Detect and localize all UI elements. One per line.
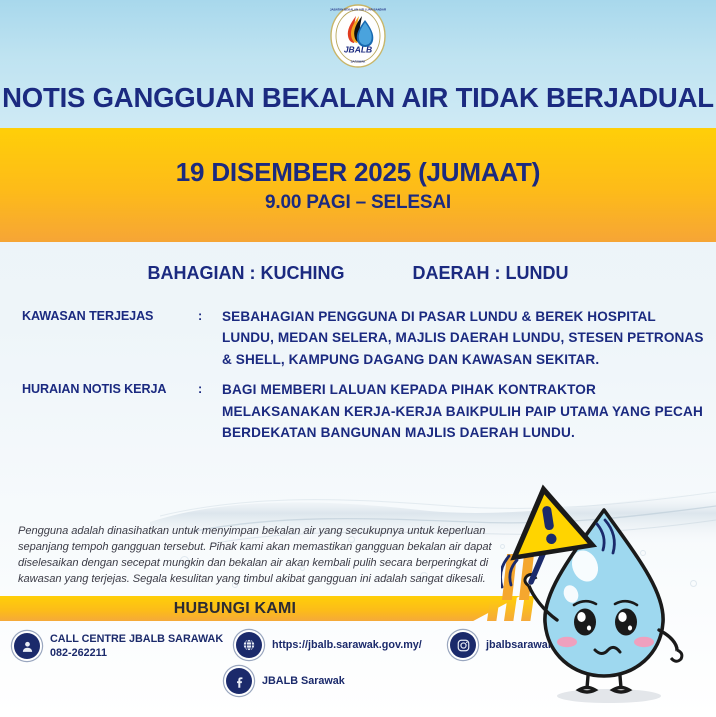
jbalb-logo: JBALB JABATAN BEKALAN AIR LUAR BANDAR SA… [326,4,390,68]
poster-header: JBALB JABATAN BEKALAN AIR LUAR BANDAR SA… [0,0,716,128]
detail-value: BAGI MEMBERI LALUAN KEPADA PIHAK KONTRAK… [222,379,704,443]
disclaimer-text: Pengguna adalah dinasihatkan untuk menyi… [18,524,518,587]
contact-instagram-text: jbalbsarawak [486,638,554,652]
page-title: NOTIS GANGGUAN BEKALAN AIR TIDAK BERJADU… [0,82,716,114]
date-band: 19 DISEMBER 2025 (JUMAAT) 9.00 PAGI – SE… [0,128,716,242]
mascot-stripe-2 [519,554,534,600]
contact-call-centre-text: CALL CENTRE JBALB SARAWAK 082-262211 [50,632,223,661]
svg-text:JABATAN BEKALAN AIR LUAR BANDA: JABATAN BEKALAN AIR LUAR BANDAR [330,8,387,12]
contact-call-centre[interactable]: CALL CENTRE JBALB SARAWAK 082-262211 [14,632,223,661]
contact-instagram[interactable]: jbalbsarawak [450,632,554,658]
detail-value: SEBAHAGIAN PENGGUNA DI PASAR LUNDU & BER… [222,306,704,370]
detail-colon: : [198,306,222,323]
detail-row-work-description: HURAIAN NOTIS KERJA : BAGI MEMBERI LALUA… [0,379,716,443]
details-section: KAWASAN TERJEJAS : SEBAHAGIAN PENGGUNA D… [0,306,716,453]
svg-text:SARAWAK: SARAWAK [351,60,367,64]
detail-row-affected-area: KAWASAN TERJEJAS : SEBAHAGIAN PENGGUNA D… [0,306,716,370]
person-icon [14,633,40,659]
detail-label: KAWASAN TERJEJAS [22,306,198,323]
outage-time: 9.00 PAGI – SELESAI [265,192,451,214]
contacts-section: CALL CENTRE JBALB SARAWAK 082-262211 htt… [0,628,716,698]
detail-label: HURAIAN NOTIS KERJA [22,379,198,396]
division-label: BAHAGIAN : KUCHING [148,263,345,284]
notice-poster: JBALB JABATAN BEKALAN AIR LUAR BANDAR SA… [0,0,716,717]
contact-website[interactable]: https://jbalb.sarawak.gov.my/ [236,632,422,658]
outage-date: 19 DISEMBER 2025 (JUMAAT) [176,157,540,188]
svg-text:JBALB: JBALB [344,45,372,55]
facebook-icon [226,668,252,694]
detail-colon: : [198,379,222,396]
instagram-icon [450,632,476,658]
contact-facebook[interactable]: JBALB Sarawak [226,668,345,694]
globe-icon [236,632,262,658]
contact-website-text: https://jbalb.sarawak.gov.my/ [272,638,422,652]
location-row: BAHAGIAN : KUCHING DAERAH : LUNDU [0,263,716,284]
district-label: DAERAH : LUNDU [413,263,569,284]
contact-facebook-text: JBALB Sarawak [262,674,345,688]
contact-banner-label: HUBUNGI KAMI [0,597,470,621]
